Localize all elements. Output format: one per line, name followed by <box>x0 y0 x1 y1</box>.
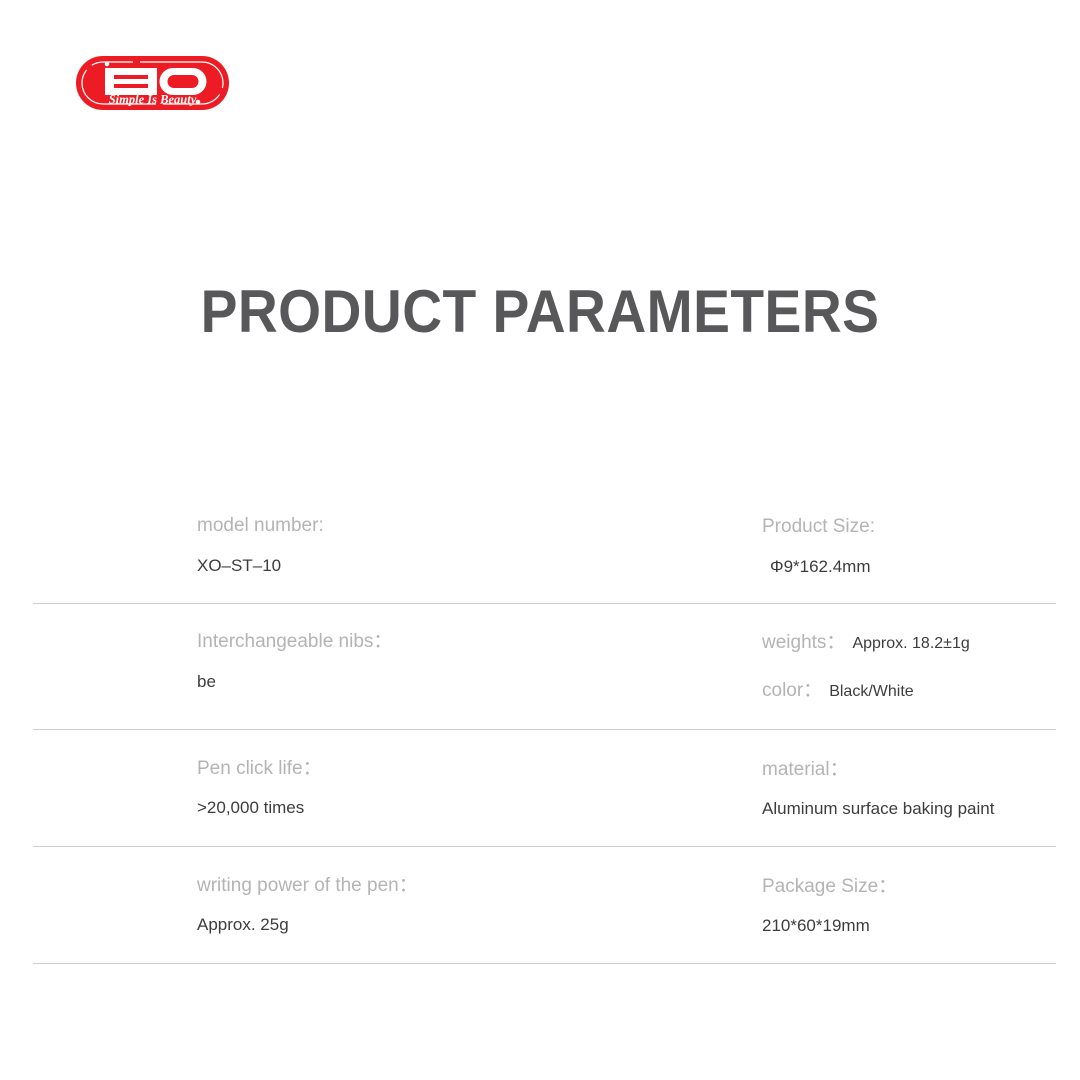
table-row: Interchangeable nibs： be weights：Approx.… <box>33 603 1056 729</box>
spec-value: >20,000 times <box>197 797 762 818</box>
spec-label: Package Size： <box>762 875 1056 899</box>
spec-value: Φ9*162.4mm <box>762 556 1056 577</box>
spec-value: Approx. 25g <box>197 914 762 935</box>
spec-pair-color: color：Black/White <box>762 679 1056 703</box>
logo-tagline: Simple Is Beauty <box>109 93 197 107</box>
spec-label: model number: <box>197 514 762 538</box>
spec-pair-weights: weights：Approx. 18.2±1g <box>762 631 1056 655</box>
spec-value: 210*60*19mm <box>762 915 1056 936</box>
spec-cell-pen-click-life: Pen click life： >20,000 times <box>33 730 762 845</box>
spec-value: Aluminum surface baking paint <box>762 798 1056 819</box>
spec-label: color： <box>762 680 822 701</box>
spec-value: XO–ST–10 <box>197 555 762 576</box>
spec-cell-product-size: Product Size: Φ9*162.4mm <box>762 500 1056 603</box>
spec-label: material： <box>762 758 1056 782</box>
spec-label: Pen click life： <box>197 757 762 781</box>
spec-label: Product Size: <box>762 515 1056 539</box>
spec-label: writing power of the pen： <box>197 874 762 898</box>
table-row: model number: XO–ST–10 Product Size: Φ9*… <box>33 500 1056 603</box>
product-parameters-table: model number: XO–ST–10 Product Size: Φ9*… <box>33 500 1056 964</box>
spec-cell-interchangeable-nibs: Interchangeable nibs： be <box>33 604 762 718</box>
page-title: PRODUCT PARAMETERS <box>43 280 1037 343</box>
brand-logo: Simple Is Beauty <box>75 55 230 111</box>
spec-value: Black/White <box>829 683 913 700</box>
table-row: writing power of the pen： Approx. 25g Pa… <box>33 846 1056 964</box>
table-row: Pen click life： >20,000 times material： … <box>33 729 1056 846</box>
spec-label: weights： <box>762 632 845 653</box>
spec-cell-package-size: Package Size： 210*60*19mm <box>762 847 1056 963</box>
spec-label: Interchangeable nibs： <box>197 630 762 654</box>
spec-cell-weights-color: weights：Approx. 18.2±1g color：Black/Whit… <box>762 604 1056 729</box>
spec-value: be <box>197 671 762 692</box>
spec-cell-model-number: model number: XO–ST–10 <box>33 500 762 602</box>
spec-cell-writing-power: writing power of the pen： Approx. 25g <box>33 847 762 962</box>
spec-value: Approx. 18.2±1g <box>852 635 969 652</box>
spec-cell-material: material： Aluminum surface baking paint <box>762 730 1056 846</box>
